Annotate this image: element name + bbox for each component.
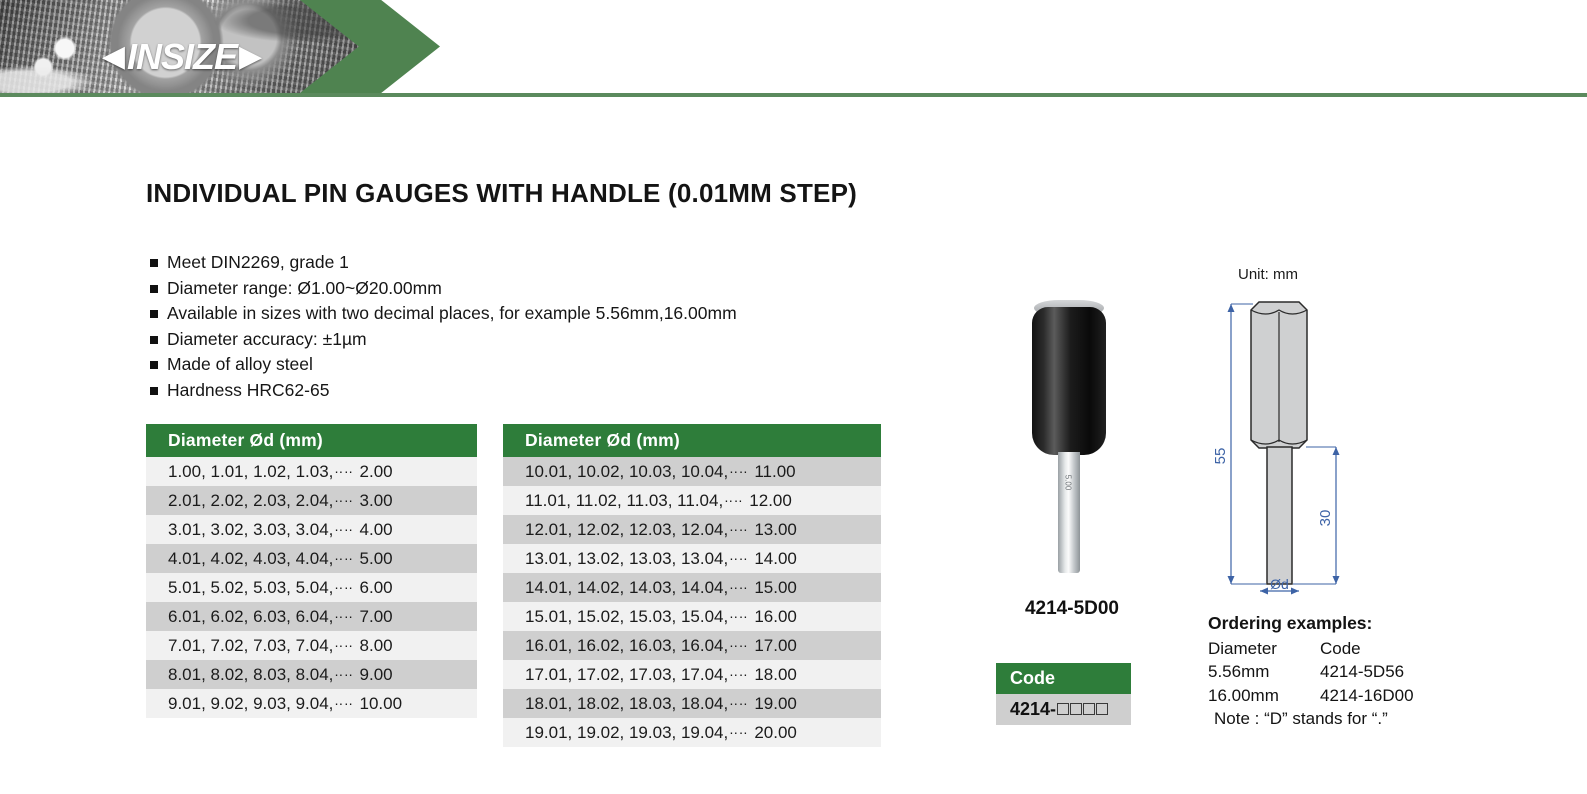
table-row: 6.01, 6.02, 6.03, 6.04,‥‥ 7.00	[146, 602, 477, 631]
header-green-rule	[0, 93, 1587, 97]
ellipsis-icon: ‥‥	[728, 664, 749, 679]
feature-text: Made of alloy steel	[167, 354, 313, 375]
ordering-code: 4214-5D56	[1320, 660, 1404, 684]
ordering-col-diameter-header: Diameter	[1208, 637, 1320, 661]
logo-arrow-right-icon: ▶	[239, 42, 262, 72]
product-code-label: 4214-5D00	[996, 598, 1148, 620]
handle-body	[1032, 307, 1106, 455]
diameter-table-right: Diameter Ød (mm) 10.01, 10.02, 10.03, 10…	[503, 424, 881, 747]
row-items: 11.01, 11.02, 11.03, 11.04,	[525, 491, 723, 510]
code-blank-square-icon	[1057, 703, 1069, 715]
drawing-svg: 55 30 Ød	[1196, 296, 1386, 596]
table-row: 3.01, 3.02, 3.03, 3.04,‥‥ 4.00	[146, 515, 477, 544]
table-row: 18.01, 18.02, 18.03, 18.04,‥‥ 19.00	[503, 689, 881, 718]
code-box-header: Code	[996, 663, 1131, 694]
dim-55-arrow-top-icon	[1228, 304, 1235, 312]
row-items: 12.01, 12.02, 12.03, 12.04,	[525, 520, 728, 539]
square-bullet-icon	[150, 285, 158, 293]
ellipsis-icon: ‥‥	[333, 461, 354, 476]
technical-drawing: 55 30 Ød	[1196, 296, 1386, 596]
logo-wordmark: INSIZE	[127, 36, 237, 78]
row-end: 8.00	[360, 636, 393, 655]
ellipsis-icon: ‥‥	[333, 519, 354, 534]
ellipsis-icon: ‥‥	[333, 693, 354, 708]
row-end: 2.00	[360, 462, 393, 481]
ellipsis-icon: ‥‥	[728, 577, 749, 592]
ellipsis-icon: ‥‥	[728, 722, 749, 737]
code-blank-square-icon	[1070, 703, 1082, 715]
square-bullet-icon	[150, 361, 158, 369]
ellipsis-icon: ‥‥	[333, 577, 354, 592]
row-end: 9.00	[360, 665, 393, 684]
row-items: 1.00, 1.01, 1.02, 1.03,	[168, 462, 333, 481]
code-blank-square-icon	[1083, 703, 1095, 715]
row-end: 18.00	[754, 665, 797, 684]
table-header-row: Diameter Ød (mm)	[146, 424, 477, 457]
row-items: 10.01, 10.02, 10.03, 10.04,	[525, 462, 728, 481]
ellipsis-icon: ‥‥	[333, 635, 354, 650]
row-end: 16.00	[754, 607, 797, 626]
ellipsis-icon: ‥‥	[723, 490, 744, 505]
row-items: 5.01, 5.02, 5.03, 5.04,	[168, 578, 333, 597]
list-item: Hardness HRC62-65	[150, 380, 737, 401]
table-row: 9.01, 9.02, 9.03, 9.04,‥‥ 10.00	[146, 689, 477, 718]
row-end: 20.00	[754, 723, 797, 742]
row-end: 6.00	[360, 578, 393, 597]
dim-d-arrow-left-icon	[1260, 588, 1268, 595]
row-items: 2.01, 2.02, 2.03, 2.04,	[168, 491, 333, 510]
table-row: 17.01, 17.02, 17.03, 17.04,‥‥ 18.00	[503, 660, 881, 689]
square-bullet-icon	[150, 336, 158, 344]
dim-55-arrow-bottom-icon	[1228, 576, 1235, 584]
code-box: Code 4214-	[996, 663, 1131, 725]
row-items: 3.01, 3.02, 3.03, 3.04,	[168, 520, 333, 539]
table-row: 5.01, 5.02, 5.03, 5.04,‥‥ 6.00	[146, 573, 477, 602]
ordering-note: Note : “D” stands for “.”	[1208, 707, 1414, 731]
row-items: 15.01, 15.02, 15.03, 15.04,	[525, 607, 728, 626]
logo-arrow-left-icon: ◀	[102, 42, 125, 72]
column-header-diameter: Diameter Ød (mm)	[503, 424, 881, 457]
insize-logo[interactable]: ◀ INSIZE ▶	[92, 36, 272, 78]
row-items: 18.01, 18.02, 18.03, 18.04,	[525, 694, 728, 713]
ellipsis-icon: ‥‥	[333, 548, 354, 563]
row-items: 7.01, 7.02, 7.03, 7.04,	[168, 636, 333, 655]
row-end: 15.00	[754, 578, 797, 597]
ellipsis-icon: ‥‥	[728, 548, 749, 563]
list-item: Available in sizes with two decimal plac…	[150, 303, 737, 324]
table-row: 8.01, 8.02, 8.03, 8.04,‥‥ 9.00	[146, 660, 477, 689]
row-items: 8.01, 8.02, 8.03, 8.04,	[168, 665, 333, 684]
row-items: 6.01, 6.02, 6.03, 6.04,	[168, 607, 333, 626]
row-end: 12.00	[749, 491, 792, 510]
table-row: 12.01, 12.02, 12.03, 12.04,‥‥ 13.00	[503, 515, 881, 544]
row-end: 17.00	[754, 636, 797, 655]
ordering-code: 4214-16D00	[1320, 684, 1414, 708]
ordering-col-code-header: Code	[1320, 637, 1361, 661]
ordering-header-row: Diameter Code	[1208, 637, 1414, 661]
table-row: 13.01, 13.02, 13.03, 13.04,‥‥ 14.00	[503, 544, 881, 573]
list-item: Meet DIN2269, grade 1	[150, 252, 737, 273]
ellipsis-icon: ‥‥	[728, 519, 749, 534]
table-header-row: Diameter Ød (mm)	[503, 424, 881, 457]
dim-30-arrow-bottom-icon	[1333, 576, 1340, 584]
row-end: 3.00	[360, 491, 393, 510]
ellipsis-icon: ‥‥	[728, 461, 749, 476]
square-bullet-icon	[150, 259, 158, 267]
list-item: Made of alloy steel	[150, 354, 737, 375]
ordering-title: Ordering examples:	[1208, 612, 1414, 636]
table-row: 19.01, 19.02, 19.03, 19.04,‥‥ 20.00	[503, 718, 881, 747]
table-row: 15.01, 15.02, 15.03, 15.04,‥‥ 16.00	[503, 602, 881, 631]
row-end: 13.00	[754, 520, 797, 539]
ellipsis-icon: ‥‥	[333, 490, 354, 505]
feature-text: Diameter range: Ø1.00~Ø20.00mm	[167, 278, 442, 299]
square-bullet-icon	[150, 310, 158, 318]
ellipsis-icon: ‥‥	[728, 606, 749, 621]
feature-text: Hardness HRC62-65	[167, 380, 329, 401]
table-row: 7.01, 7.02, 7.03, 7.04,‥‥ 8.00	[146, 631, 477, 660]
table-row: 14.01, 14.02, 14.03, 14.04,‥‥ 15.00	[503, 573, 881, 602]
feature-text: Available in sizes with two decimal plac…	[167, 303, 737, 324]
dim-30-arrow-top-icon	[1333, 447, 1340, 455]
drawing-unit-label: Unit: mm	[1238, 266, 1298, 283]
diameter-table-left: Diameter Ød (mm) 1.00, 1.01, 1.02, 1.03,…	[146, 424, 477, 718]
column-header-diameter: Diameter Ød (mm)	[146, 424, 477, 457]
dim-30-label: 30	[1317, 510, 1334, 527]
pin-shaft	[1058, 452, 1080, 573]
ordering-row: 16.00mm 4214-16D00	[1208, 684, 1414, 708]
ordering-examples: Ordering examples: Diameter Code 5.56mm …	[1208, 612, 1414, 731]
row-items: 9.01, 9.02, 9.03, 9.04,	[168, 694, 333, 713]
list-item: Diameter accuracy: ±1µm	[150, 329, 737, 350]
product-photo: 5.00	[1012, 300, 1132, 585]
table-row: 16.01, 16.02, 16.03, 16.04,‥‥ 17.00	[503, 631, 881, 660]
row-items: 19.01, 19.02, 19.03, 19.04,	[525, 723, 728, 742]
ellipsis-icon: ‥‥	[333, 606, 354, 621]
ordering-row: 5.56mm 4214-5D56	[1208, 660, 1414, 684]
table-row: 4.01, 4.02, 4.03, 4.04,‥‥ 5.00	[146, 544, 477, 573]
row-items: 14.01, 14.02, 14.03, 14.04,	[525, 578, 728, 597]
feature-text: Diameter accuracy: ±1µm	[167, 329, 367, 350]
pin-engraving: 5.00	[1063, 475, 1072, 491]
row-items: 16.01, 16.02, 16.03, 16.04,	[525, 636, 728, 655]
page-title: INDIVIDUAL PIN GAUGES WITH HANDLE (0.01M…	[146, 178, 857, 209]
ordering-diameter: 5.56mm	[1208, 660, 1320, 684]
row-end: 5.00	[360, 549, 393, 568]
ellipsis-icon: ‥‥	[728, 635, 749, 650]
ellipsis-icon: ‥‥	[333, 664, 354, 679]
square-bullet-icon	[150, 387, 158, 395]
dim-diameter-label: Ød	[1270, 576, 1289, 592]
row-end: 10.00	[360, 694, 403, 713]
dim-d-arrow-right-icon	[1291, 588, 1299, 595]
row-end: 4.00	[360, 520, 393, 539]
table-row: 2.01, 2.02, 2.03, 2.04,‥‥ 3.00	[146, 486, 477, 515]
row-end: 7.00	[360, 607, 393, 626]
row-end: 19.00	[754, 694, 797, 713]
code-blank-square-icon	[1096, 703, 1108, 715]
row-items: 13.01, 13.02, 13.03, 13.04,	[525, 549, 728, 568]
code-box-value: 4214-	[996, 694, 1131, 725]
product-datasheet-page: ◀ INSIZE ▶ INDIVIDUAL PIN GAUGES WITH HA…	[0, 0, 1587, 794]
table-row: 10.01, 10.02, 10.03, 10.04,‥‥ 11.00	[503, 457, 881, 486]
table-row: 1.00, 1.01, 1.02, 1.03,‥‥ 2.00	[146, 457, 477, 486]
table-row: 11.01, 11.02, 11.03, 11.04,‥‥ 12.00	[503, 486, 881, 515]
row-end: 14.00	[754, 549, 797, 568]
row-items: 17.01, 17.02, 17.03, 17.04,	[525, 665, 728, 684]
feature-list: Meet DIN2269, grade 1 Diameter range: Ø1…	[150, 252, 737, 405]
row-items: 4.01, 4.02, 4.03, 4.04,	[168, 549, 333, 568]
row-end: 11.00	[754, 462, 795, 481]
list-item: Diameter range: Ø1.00~Ø20.00mm	[150, 278, 737, 299]
code-prefix: 4214-	[1010, 699, 1056, 719]
ordering-diameter: 16.00mm	[1208, 684, 1320, 708]
ellipsis-icon: ‥‥	[728, 693, 749, 708]
header-banner: ◀ INSIZE ▶	[0, 0, 1587, 98]
dim-55-label: 55	[1212, 448, 1229, 465]
pin-shaft-outline	[1267, 447, 1292, 584]
feature-text: Meet DIN2269, grade 1	[167, 252, 349, 273]
